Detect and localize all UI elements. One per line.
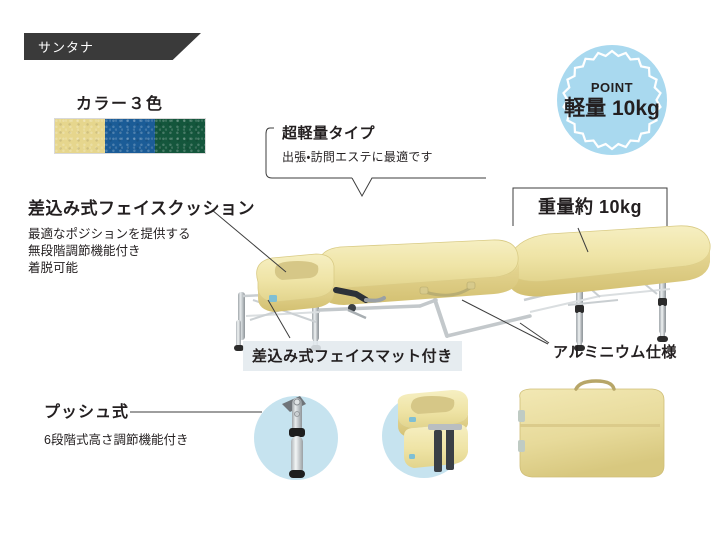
aluminium-tag: アルミニウム仕様 [553, 341, 677, 362]
push-type-callout: プッシュ式 6段階式高さ調節機能付き [44, 398, 259, 448]
brand-banner: サンタナ [24, 33, 201, 60]
face-cushion-detail [382, 390, 468, 478]
push-type-title: プッシュ式 [44, 398, 259, 422]
weight-label: 重量約 10kg [511, 186, 669, 226]
infographic-root: サンタナ カラー３色 POINT 軽量 10kg 超軽量タイプ 出張・訪問エステ… [0, 0, 726, 539]
push-leg-detail [254, 396, 338, 480]
color-swatch-green [155, 119, 205, 153]
color-swatch-row [54, 118, 206, 154]
face-cushion-detail-lines: 最適なポジションを提供する 無段階調節機能付き 着脱可能 [28, 226, 278, 277]
face-cushion-line-2: 無段階調節機能付き [28, 243, 278, 260]
point-badge-shape [556, 44, 668, 156]
face-cushion-line-1: 最適なポジションを提供する [28, 226, 278, 243]
ultra-light-title: 超軽量タイプ [282, 122, 433, 143]
color-section-heading: カラー３色 [76, 90, 164, 114]
face-mat-tag: 差込み式フェイスマット付き [243, 341, 462, 371]
table-frame [234, 276, 670, 351]
color-swatch-cream [55, 119, 105, 153]
face-cushion-title: 差込み式フェイスクッション [28, 194, 278, 219]
folded-case-detail [518, 381, 664, 477]
table-pad-main [319, 240, 519, 305]
weight-callout: 重量約 10kg [511, 186, 669, 226]
color-swatch-blue [105, 119, 155, 153]
ultra-light-subtitle: 出張・訪問エステに最適です [282, 148, 433, 165]
brand-name: サンタナ [24, 37, 94, 56]
face-cushion-callout: 差込み式フェイスクッション 最適なポジションを提供する 無段階調節機能付き 着脱… [28, 194, 278, 277]
point-badge: POINT 軽量 10kg [556, 44, 668, 156]
push-type-subtitle: 6段階式高さ調節機能付き [44, 429, 259, 448]
face-cushion-line-3: 着脱可能 [28, 260, 278, 277]
ultra-light-callout: 超軽量タイプ 出張・訪問エステに最適です [268, 122, 486, 180]
table-pad-right [508, 226, 710, 297]
